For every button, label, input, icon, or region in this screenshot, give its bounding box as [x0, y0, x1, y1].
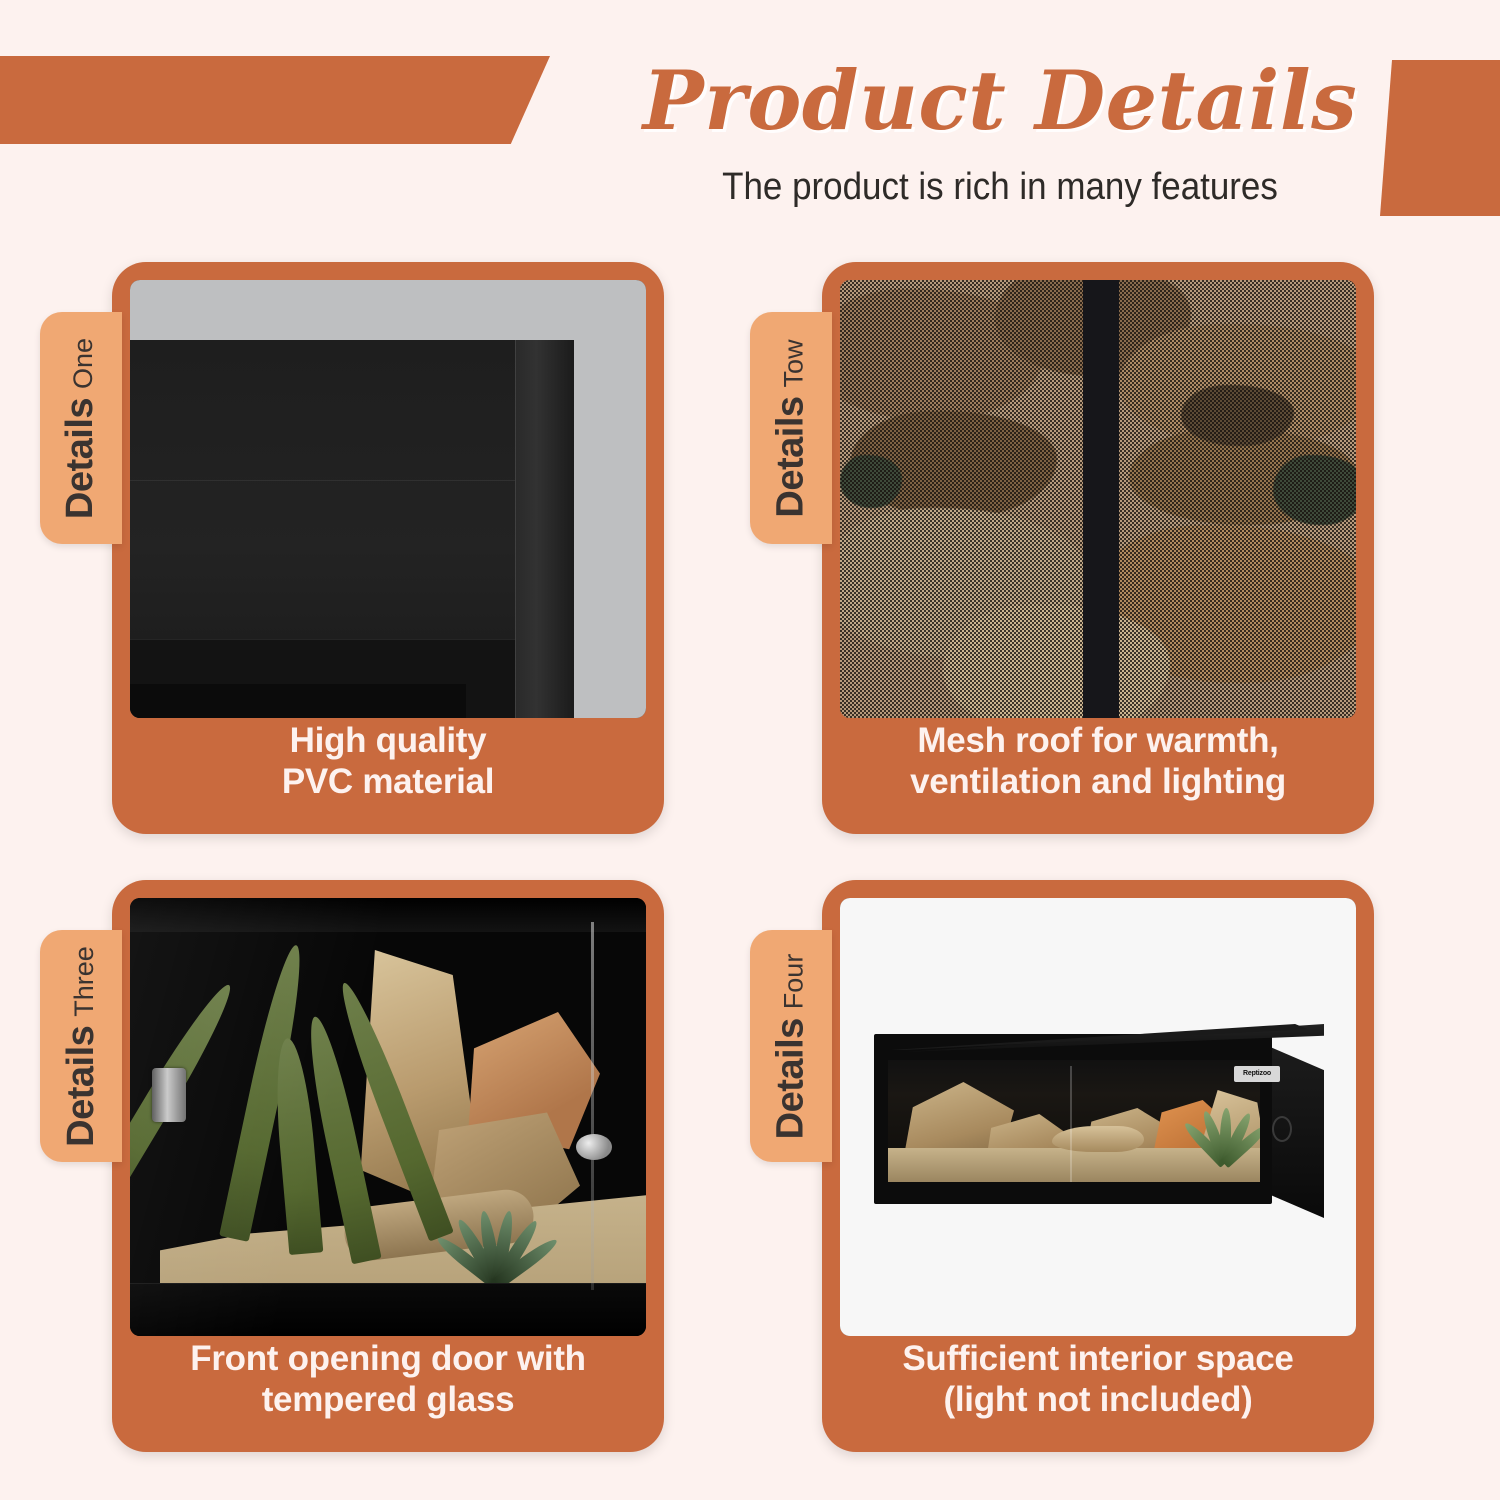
detail-caption-three-line2: tempered glass — [126, 1379, 650, 1420]
detail-caption-two: Mesh roof for warmth, ventilation and li… — [836, 720, 1360, 803]
detail-tab-three: Details Three — [40, 930, 122, 1162]
detail-tab-two-number: Tow — [779, 339, 810, 387]
detail-tab-four: Details Four — [750, 930, 832, 1162]
details-grid: Details One High quality PVC material De… — [0, 262, 1500, 1500]
detail-card-three: Front opening door with tempered glass — [112, 880, 664, 1452]
detail-cell-three: Details Three — [40, 880, 758, 1492]
pvc-panel-closeup-photo — [130, 280, 646, 718]
detail-caption-four-line1: Sufficient interior space — [836, 1338, 1360, 1379]
detail-cell-four: Details Four — [750, 880, 1468, 1492]
door-latch-icon — [576, 1134, 612, 1160]
mesh-roof-closeup-photo — [840, 280, 1356, 718]
detail-caption-three: Front opening door with tempered glass — [126, 1338, 650, 1421]
detail-tab-four-label: Details — [770, 1018, 813, 1139]
plant-right — [1184, 1094, 1254, 1164]
page-title: Product Details — [560, 54, 1440, 149]
detail-cell-one: Details One High quality PVC material — [40, 262, 758, 874]
bearded-dragon — [1052, 1126, 1144, 1152]
detail-caption-four: Sufficient interior space (light not inc… — [836, 1338, 1360, 1421]
detail-tab-four-number: Four — [779, 953, 810, 1009]
side-vent-icon — [1272, 1116, 1292, 1142]
detail-tab-two-label: Details — [770, 396, 813, 517]
page-subtitle: The product is rich in many features — [595, 166, 1405, 209]
detail-caption-one-line2: PVC material — [126, 761, 650, 802]
detail-caption-three-line1: Front opening door with — [126, 1338, 650, 1379]
detail-caption-one: High quality PVC material — [126, 720, 650, 803]
detail-tab-one: Details One — [40, 312, 122, 544]
detail-caption-four-line2: (light not included) — [836, 1379, 1360, 1420]
full-terrarium-product-photo: Reptizoo — [840, 898, 1356, 1336]
front-opening-door-photo — [130, 898, 646, 1336]
detail-cell-two: Details Tow — [750, 262, 1468, 874]
detail-caption-two-line1: Mesh roof for warmth, — [836, 720, 1360, 761]
detail-caption-one-line1: High quality — [126, 720, 650, 761]
detail-card-four: Reptizoo Sufficient interior space (ligh… — [822, 880, 1374, 1452]
detail-tab-one-number: One — [69, 337, 100, 388]
succulent-plant — [430, 1164, 550, 1284]
door-handle-icon — [152, 1068, 186, 1122]
header-banner-left — [0, 56, 550, 144]
detail-card-one: High quality PVC material — [112, 262, 664, 834]
detail-card-two: Mesh roof for warmth, ventilation and li… — [822, 262, 1374, 834]
detail-tab-three-label: Details — [60, 1025, 103, 1146]
page-header: Product Details The product is rich in m… — [0, 0, 1500, 248]
detail-tab-one-label: Details — [60, 397, 103, 518]
detail-tab-three-number: Three — [69, 946, 100, 1017]
terrarium-illustration: Reptizoo — [874, 1024, 1304, 1204]
detail-tab-two: Details Tow — [750, 312, 832, 544]
detail-caption-two-line2: ventilation and lighting — [836, 761, 1360, 802]
brand-logo: Reptizoo — [1234, 1066, 1280, 1082]
